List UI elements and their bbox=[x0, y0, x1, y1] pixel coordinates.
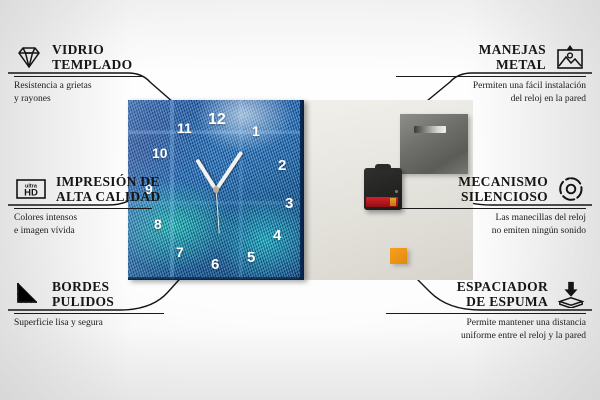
mechanism-battery bbox=[366, 197, 398, 207]
clock-center-pin bbox=[213, 187, 219, 193]
clock-numeral-10: 10 bbox=[152, 146, 168, 160]
metal-hanger bbox=[400, 114, 468, 174]
callout-header: MECANISMO SILENCIOSO bbox=[396, 174, 586, 204]
callout-desc-1: Resistencia a grietas bbox=[14, 80, 164, 92]
callout-manejas-metal: MANEJAS METAL Permiten una fácil instala… bbox=[396, 42, 586, 105]
clock-numeral-12: 12 bbox=[208, 112, 226, 128]
picture-hook-icon bbox=[554, 43, 586, 71]
callout-desc-1: Permite mantener una distancia bbox=[386, 317, 586, 329]
callout-desc-2: uniforme entre el reloj y la pared bbox=[386, 330, 586, 342]
hanger-slot bbox=[414, 126, 446, 133]
clock-numeral-6: 6 bbox=[211, 257, 219, 272]
callout-header: MANEJAS METAL bbox=[396, 42, 586, 72]
callout-title: MANEJAS METAL bbox=[479, 42, 546, 72]
clock-numeral-5: 5 bbox=[247, 250, 255, 265]
callout-rule bbox=[386, 313, 586, 314]
callout-impresion-alta-calidad: ultra HD IMPRESIÓN DE ALTA CALIDAD Color… bbox=[14, 174, 174, 237]
callout-rule bbox=[396, 76, 586, 77]
callout-header: ultra HD IMPRESIÓN DE ALTA CALIDAD bbox=[14, 174, 174, 204]
clock-numeral-2: 2 bbox=[278, 158, 286, 173]
callout-espaciador-espuma: ESPACIADOR DE ESPUMA Permite mantener un… bbox=[386, 279, 586, 342]
callout-title: ESPACIADOR DE ESPUMA bbox=[457, 279, 548, 309]
polished-edge-icon bbox=[14, 281, 44, 307]
callout-rule bbox=[14, 313, 164, 314]
clock-numeral-1: 1 bbox=[252, 124, 260, 138]
clock-numeral-4: 4 bbox=[273, 228, 281, 243]
clock-right-edge bbox=[300, 100, 304, 280]
callout-rule bbox=[14, 208, 152, 209]
callout-title: MECANISMO SILENCIOSO bbox=[458, 174, 548, 204]
clock-numeral-11: 11 bbox=[177, 121, 192, 135]
callout-header: VIDRIO TEMPLADO bbox=[14, 42, 164, 72]
callout-desc-2: y rayones bbox=[14, 93, 164, 105]
diamond-icon bbox=[14, 44, 44, 70]
mechanism-shaft bbox=[375, 164, 391, 170]
ultra-hd-icon: ultra HD bbox=[14, 176, 48, 202]
callout-header: BORDES PULIDOS bbox=[14, 279, 184, 309]
callout-desc-1: Superficie lisa y segura bbox=[14, 317, 184, 329]
infographic-canvas: 12 1 2 3 4 5 6 7 8 9 10 11 bbox=[0, 0, 600, 400]
foam-spacer bbox=[390, 248, 407, 264]
callout-desc-1: Las manecillas del reloj bbox=[396, 212, 586, 224]
callout-title: BORDES PULIDOS bbox=[52, 279, 114, 309]
callout-title: IMPRESIÓN DE ALTA CALIDAD bbox=[56, 174, 161, 204]
ultra-hd-big-label: HD bbox=[24, 188, 38, 199]
callout-desc-1: Colores intensos bbox=[14, 212, 174, 224]
callout-rule bbox=[14, 76, 142, 77]
callout-rule bbox=[396, 208, 586, 209]
callout-header: ESPACIADOR DE ESPUMA bbox=[386, 279, 586, 309]
gear-icon bbox=[556, 175, 586, 203]
foam-spacer-icon bbox=[556, 280, 586, 308]
callout-desc-2: e imagen vívida bbox=[14, 225, 174, 237]
callout-mecanismo-silencioso: MECANISMO SILENCIOSO Las manecillas del … bbox=[396, 174, 586, 237]
callout-vidrio-templado: VIDRIO TEMPLADO Resistencia a grietas y … bbox=[14, 42, 164, 105]
clock-numeral-7: 7 bbox=[176, 245, 184, 259]
callout-bordes-pulidos: BORDES PULIDOS Superficie lisa y segura bbox=[14, 279, 184, 330]
callout-desc-1: Permiten una fácil instalación bbox=[396, 80, 586, 92]
clock-numeral-3: 3 bbox=[285, 196, 293, 211]
callout-title: VIDRIO TEMPLADO bbox=[52, 42, 132, 72]
callout-desc-2: no emiten ningún sonido bbox=[396, 225, 586, 237]
callout-desc-2: del reloj en la pared bbox=[396, 93, 586, 105]
